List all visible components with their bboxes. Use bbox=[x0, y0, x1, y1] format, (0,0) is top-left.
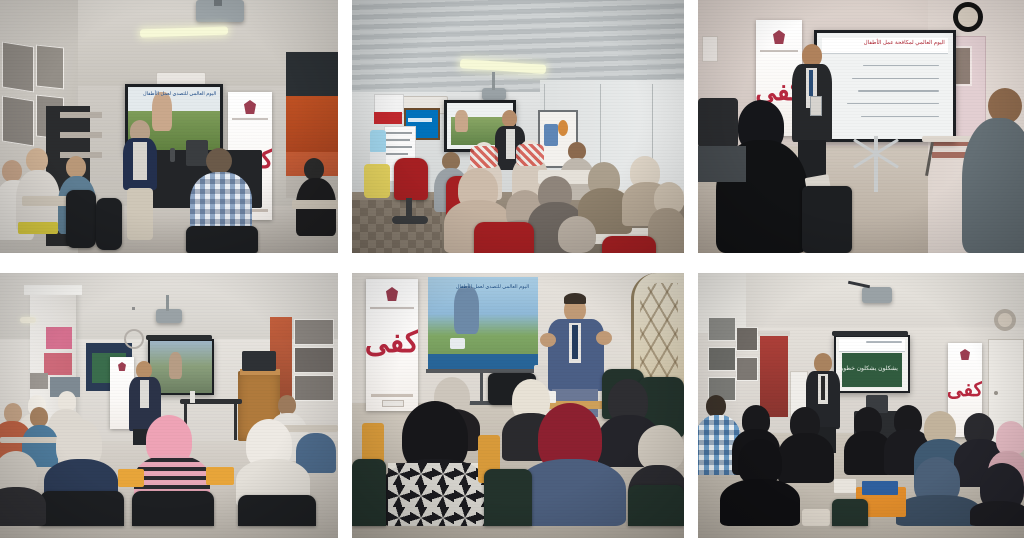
stacked-chairs bbox=[698, 98, 738, 148]
chair bbox=[832, 499, 868, 526]
facilitator-trousers bbox=[127, 188, 153, 240]
chair-base bbox=[392, 216, 428, 224]
speaker-box bbox=[186, 140, 208, 166]
slide-child-figure bbox=[455, 110, 468, 131]
chair bbox=[132, 491, 214, 526]
attendee-body bbox=[970, 501, 1024, 526]
presenter-head bbox=[814, 353, 832, 373]
slide-child-figure bbox=[454, 286, 478, 334]
slide-figure bbox=[169, 352, 183, 379]
screen-tripod-post bbox=[874, 136, 878, 192]
photo-top-left-scene: اليوم العالمي للتصدي لعمل الأطفال كفى bbox=[0, 0, 338, 253]
slide-headline-ar: اليوم العالمي للتصدي لعمل الأطفال bbox=[143, 91, 216, 99]
chair bbox=[352, 459, 386, 526]
wall-poster bbox=[2, 95, 34, 146]
table-leg bbox=[234, 404, 237, 440]
gallery-photo bbox=[736, 357, 758, 381]
poster-text-line bbox=[386, 146, 412, 148]
red-chair bbox=[602, 236, 656, 253]
photo-bottom-middle[interactable]: كفى اليوم العالمي للتصدي لعمل الأطفال bbox=[352, 273, 684, 538]
wall-art bbox=[44, 353, 72, 375]
attendee-desk bbox=[292, 200, 338, 209]
projector-pole bbox=[492, 72, 495, 90]
attendee-body bbox=[896, 495, 980, 526]
slide-title-rule bbox=[866, 341, 902, 343]
wall-clock bbox=[953, 2, 983, 32]
column-capital bbox=[24, 285, 82, 295]
banner-logo-strip bbox=[382, 400, 405, 407]
water-bottle bbox=[190, 391, 195, 403]
chair bbox=[186, 226, 258, 253]
water-bottle bbox=[170, 148, 175, 162]
unhcr-wordmark bbox=[408, 118, 432, 122]
poster-text-line bbox=[386, 139, 410, 141]
gallery-photo bbox=[708, 347, 736, 371]
facilitator-shirt bbox=[133, 142, 147, 180]
shelf bbox=[60, 132, 102, 138]
flip-chart-graphic bbox=[544, 124, 558, 146]
ceiling-light bbox=[20, 317, 36, 323]
wall-poster bbox=[36, 45, 64, 90]
cup bbox=[534, 365, 548, 377]
gallery-photo bbox=[708, 317, 736, 341]
attendee-desk bbox=[282, 425, 338, 432]
crest-icon bbox=[773, 30, 785, 44]
slide-body-ar: يشكلون يشكلون خطورة bbox=[837, 365, 898, 374]
wall-photo bbox=[30, 373, 48, 389]
attendee-head bbox=[304, 158, 324, 180]
poster-text-line bbox=[386, 132, 412, 134]
gallery-photo bbox=[736, 327, 758, 351]
slide-headline-ar: اليوم العالمي للتصدي لعمل الأطفال bbox=[456, 284, 529, 292]
chair bbox=[96, 198, 122, 250]
wall-clock bbox=[994, 309, 1016, 331]
presenter-tie bbox=[809, 70, 813, 96]
flip-chart-graphic bbox=[558, 120, 568, 136]
ceiling bbox=[698, 273, 1024, 333]
slide-bullet bbox=[858, 90, 940, 92]
wall-art bbox=[46, 327, 72, 349]
presenter-tie bbox=[821, 376, 825, 400]
slide-logo bbox=[450, 338, 465, 349]
chair-armrest bbox=[118, 469, 144, 487]
projection-screen: اليوم العالمي للتصدي لعمل الأطفال bbox=[428, 277, 538, 369]
photo-top-right-scene: كفى اليوم العالمي لمكافحة عمل الأطفال bbox=[698, 0, 1024, 253]
equipment bbox=[698, 146, 746, 182]
attendee-head bbox=[706, 395, 726, 417]
slide-footer-band bbox=[428, 354, 538, 369]
banner-calligraphy: كفى bbox=[948, 377, 982, 402]
photo-top-middle-scene bbox=[352, 0, 684, 253]
screen-content: اليوم العالمي للتصدي لعمل الأطفال bbox=[428, 277, 538, 369]
screen-roller bbox=[832, 331, 908, 336]
keffiyeh bbox=[516, 144, 544, 166]
slide-bullet bbox=[863, 65, 939, 67]
speaker-hand bbox=[540, 333, 556, 347]
handbag bbox=[802, 509, 830, 526]
booklet bbox=[862, 481, 898, 495]
gallery-photo bbox=[294, 347, 334, 373]
slide-title-ar: اليوم العالمي لمكافحة عمل الأطفال bbox=[864, 39, 945, 47]
crest-icon bbox=[244, 100, 256, 114]
red-chair bbox=[474, 222, 534, 253]
lanyard-badge bbox=[810, 96, 822, 116]
chair-armrest bbox=[206, 467, 234, 485]
photo-bottom-left[interactable]: Male facilitator in navy suit presenting… bbox=[0, 273, 338, 538]
speaker-hair bbox=[564, 293, 586, 304]
slide-bullet bbox=[861, 116, 940, 118]
wall-fixture bbox=[132, 307, 135, 310]
banner-subtitle-rule bbox=[232, 118, 269, 120]
attendee-head bbox=[4, 403, 22, 423]
wall-note bbox=[702, 36, 718, 62]
photo-top-right[interactable]: كفى اليوم العالمي لمكافحة عمل الأطفال bbox=[698, 0, 1024, 253]
attendee-body bbox=[516, 459, 626, 526]
chair bbox=[484, 469, 532, 526]
banner-subtitle-rule bbox=[760, 50, 799, 52]
slide-bullet bbox=[852, 78, 939, 80]
banner-calligraphy: كفى bbox=[366, 325, 418, 360]
ceiling-projector bbox=[156, 309, 182, 323]
wall-poster bbox=[2, 41, 34, 92]
chair bbox=[238, 495, 316, 526]
tripod-screen: اليوم العالمي لمكافحة عمل الأطفال bbox=[814, 30, 956, 142]
roll-up-banner: كفى bbox=[366, 279, 418, 411]
banner-footer-rule bbox=[371, 394, 413, 397]
attendee-head bbox=[278, 395, 296, 415]
crest-icon bbox=[960, 349, 970, 360]
chair bbox=[802, 186, 852, 253]
attendee-hijab bbox=[996, 421, 1024, 455]
attendee-patterned-top bbox=[388, 463, 484, 526]
speaker-hand bbox=[596, 331, 612, 345]
chair bbox=[628, 485, 684, 526]
speaker-tie bbox=[572, 325, 578, 359]
attendee-body bbox=[778, 433, 834, 483]
attendee-body bbox=[190, 172, 252, 234]
banner-subtitle-rule bbox=[370, 307, 414, 309]
projection-screen: يشكلون يشكلون خطورة bbox=[834, 335, 910, 393]
wall-clock bbox=[124, 329, 144, 349]
photo-top-left[interactable]: اليوم العالمي للتصدي لعمل الأطفال كفى bbox=[0, 0, 338, 253]
water-cooler-bottle bbox=[370, 130, 386, 152]
attendee-head bbox=[2, 160, 22, 182]
monitor bbox=[242, 351, 276, 371]
photo-collage: اليوم العالمي للتصدي لعمل الأطفال كفى bbox=[0, 0, 1024, 538]
keffiyeh bbox=[470, 146, 498, 168]
screen-roller bbox=[146, 335, 212, 340]
attendee-body bbox=[962, 118, 1024, 253]
info-poster-banner bbox=[374, 112, 402, 124]
plastic-chair bbox=[364, 164, 390, 198]
projector-mount bbox=[214, 0, 222, 6]
attendee-hijab bbox=[558, 216, 596, 253]
red-office-chair bbox=[394, 158, 428, 200]
presenter-shirt bbox=[140, 380, 149, 408]
crest-icon bbox=[386, 287, 398, 301]
attendee-head bbox=[206, 148, 232, 174]
photo-top-middle[interactable]: Male presenter in front of a whiteboard … bbox=[352, 0, 684, 253]
slide-bullet bbox=[847, 103, 939, 105]
info-poster bbox=[374, 94, 404, 114]
floor-tiles bbox=[352, 200, 442, 253]
presenter-head bbox=[502, 110, 517, 127]
photo-bottom-right[interactable]: يشكلون يشكلون خطورة كفى bbox=[698, 273, 1024, 538]
poster-text-line bbox=[386, 153, 408, 155]
attendee-body bbox=[720, 479, 800, 526]
gallery-photo bbox=[294, 319, 334, 345]
photo-bottom-left-scene bbox=[0, 273, 338, 538]
attendee-head bbox=[26, 148, 48, 172]
gallery-photo bbox=[294, 375, 334, 401]
screen-content: اليوم العالمي لمكافحة عمل الأطفال bbox=[817, 33, 953, 139]
door-handle bbox=[994, 391, 998, 395]
notebook bbox=[18, 222, 58, 234]
ceiling-projector bbox=[862, 287, 892, 303]
chair bbox=[40, 491, 124, 526]
window-blind bbox=[760, 335, 788, 417]
screen-content: يشكلون يشكلون خطورة bbox=[836, 337, 908, 391]
photo-bottom-right-scene: يشكلون يشكلون خطورة كفى bbox=[698, 273, 1024, 538]
attendee-head bbox=[58, 391, 76, 411]
attendee-head bbox=[66, 156, 86, 178]
blind-header bbox=[758, 331, 790, 336]
crest-icon bbox=[118, 362, 126, 371]
presenter-shirt bbox=[506, 129, 515, 159]
attendee-head bbox=[30, 407, 48, 427]
projector-pole bbox=[166, 295, 169, 311]
shelf bbox=[60, 112, 102, 118]
photo-bottom-middle-scene: كفى اليوم العالمي للتصدي لعمل الأطفال bbox=[352, 273, 684, 538]
papers bbox=[834, 479, 856, 493]
attendee-body bbox=[0, 487, 46, 526]
chair bbox=[66, 190, 96, 248]
